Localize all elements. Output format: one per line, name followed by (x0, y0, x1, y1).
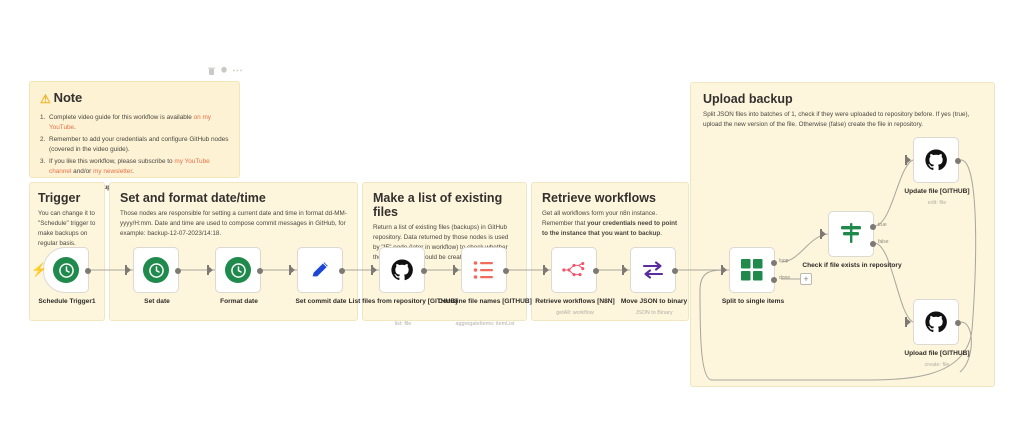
node-format-date[interactable]: Format date (215, 247, 261, 293)
input-arrow-icon (208, 266, 213, 274)
node-toolbar[interactable] (208, 66, 242, 75)
port-label-loop: loop (779, 258, 788, 264)
input-arrow-icon (623, 266, 628, 274)
swap-icon (642, 261, 664, 279)
output-port[interactable] (339, 268, 345, 274)
node-subtitle: aggregateItems: itemList (425, 321, 545, 328)
node-schedule-trigger[interactable]: ⚡ Schedule Trigger1 (43, 247, 89, 293)
node-subtitle: create: file (877, 362, 997, 369)
input-arrow-icon (722, 266, 727, 274)
note-list: Complete video guide for this workflow i… (40, 113, 229, 177)
clock-icon (143, 257, 169, 283)
input-arrow-icon (372, 266, 377, 274)
output-port[interactable] (421, 268, 427, 274)
input-arrow-icon (290, 266, 295, 274)
trash-icon[interactable] (208, 67, 215, 75)
note-title: Note (54, 90, 83, 105)
node-check-if-file-exists[interactable]: true false Check if file exists in repos… (828, 211, 874, 257)
node-split-to-single-items[interactable]: loop done Split to single items (729, 247, 775, 293)
output-port[interactable] (257, 268, 263, 274)
node-list-files-from-repository[interactable]: List files from repository [GITHUB] list… (379, 247, 425, 293)
schedule-trigger-link[interactable]: "Schedule" trigger (38, 220, 88, 227)
pin-icon[interactable] (220, 66, 228, 75)
list-item: Remember to add your credentials and con… (40, 135, 229, 155)
output-port-false[interactable]: false (870, 241, 876, 247)
node-combine-file-names[interactable]: Combine file names [GITHUB] aggregateIte… (461, 247, 507, 293)
output-port[interactable] (672, 268, 678, 274)
batch-icon (741, 259, 763, 281)
section-desc-upload: Split JSON files into batches of 1, chec… (703, 110, 982, 130)
port-label-true: true (878, 222, 887, 228)
output-port-done[interactable]: done (771, 277, 777, 283)
list-item: Complete video guide for this workflow i… (40, 113, 229, 133)
section-title-retrieve: Retrieve workflows (542, 191, 678, 205)
node-retrieve-workflows[interactable]: Retrieve workflows [N8N] getAll: workflo… (551, 247, 597, 293)
newsletter-link[interactable]: my newsletter (93, 168, 132, 175)
node-label: Upload file [GITHUB] (877, 350, 997, 359)
list-icon (473, 260, 495, 280)
output-port[interactable] (503, 268, 509, 274)
workflow-canvas[interactable]: ⚠Note Complete video guide for this work… (0, 0, 1024, 431)
node-move-json-to-binary[interactable]: Move JSON to binary JSON to Binary (630, 247, 676, 293)
node-label: Update file [GITHUB] (877, 188, 997, 197)
node-label: Split to single items (693, 298, 813, 307)
output-port[interactable] (955, 158, 961, 164)
section-title-upload: Upload backup (703, 92, 982, 106)
clock-icon (53, 257, 79, 283)
output-port-loop[interactable]: loop (771, 260, 777, 266)
switch-icon (839, 223, 863, 245)
input-arrow-icon (906, 156, 911, 164)
n8n-icon (562, 261, 586, 279)
section-desc-set-format: Those nodes are responsible for setting … (120, 209, 347, 239)
input-arrow-icon (454, 266, 459, 274)
node-set-date[interactable]: Set date (133, 247, 179, 293)
warning-icon: ⚠ (40, 92, 51, 106)
section-title-set-format: Set and format date/time (120, 191, 347, 205)
add-node-button[interactable]: + (800, 273, 812, 285)
input-arrow-icon (544, 266, 549, 274)
date-example-code: backup-12-07-2023/14:18 (147, 230, 219, 237)
section-desc-trigger: You can change it to "Schedule" trigger … (38, 209, 96, 249)
clock-icon (225, 257, 251, 283)
sticky-note-warning[interactable]: ⚠Note Complete video guide for this work… (29, 81, 240, 178)
output-port[interactable] (85, 268, 91, 274)
github-icon (390, 258, 414, 282)
port-label-false: false (878, 239, 889, 245)
section-title-list-files: Make a list of existing files (373, 191, 516, 219)
github-icon (924, 310, 948, 334)
ellipsis-icon[interactable] (233, 69, 242, 72)
node-update-file[interactable]: Update file [GITHUB] edit: file (913, 137, 959, 183)
node-subtitle: JSON to Binary (594, 310, 714, 317)
port-label-done: done (779, 275, 790, 281)
pencil-icon (309, 259, 331, 281)
section-desc-retrieve: Get all workflows form your n8n instance… (542, 209, 678, 239)
node-label: Check if file exists in repository (792, 262, 912, 271)
output-port[interactable] (955, 320, 961, 326)
list-item: If you like this workflow, please subscr… (40, 157, 229, 177)
input-arrow-icon (821, 230, 826, 238)
input-arrow-icon (126, 266, 131, 274)
node-upload-file[interactable]: Upload file [GITHUB] create: file (913, 299, 959, 345)
section-title-trigger: Trigger (38, 191, 96, 205)
output-port[interactable] (593, 268, 599, 274)
github-icon (924, 148, 948, 172)
node-subtitle: edit: file (877, 200, 997, 207)
node-set-commit-date[interactable]: Set commit date (297, 247, 343, 293)
note-title-row: ⚠Note (40, 90, 229, 106)
input-arrow-icon (906, 318, 911, 326)
output-port[interactable] (175, 268, 181, 274)
lightning-icon: ⚡ (31, 263, 47, 276)
output-port-true[interactable]: true (870, 224, 876, 230)
